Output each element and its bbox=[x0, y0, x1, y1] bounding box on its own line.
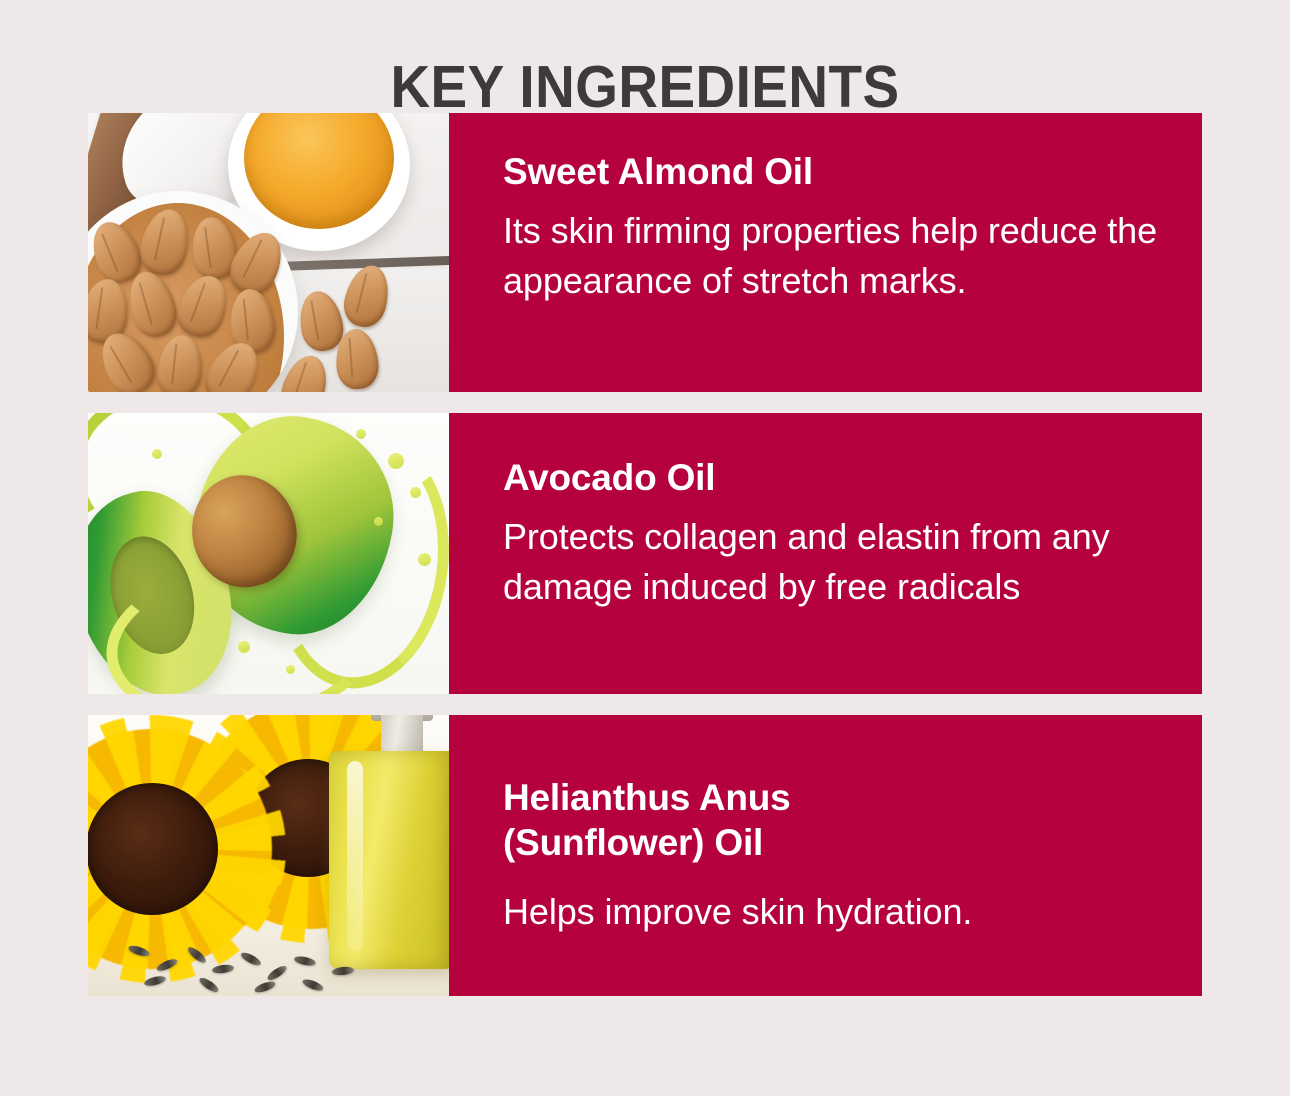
ingredient-name: Sweet Almond Oil bbox=[503, 149, 1162, 194]
oil-droplet bbox=[152, 449, 162, 459]
sunflower-disc bbox=[88, 783, 218, 915]
oil-droplet bbox=[388, 453, 404, 469]
avocado-photo-art bbox=[88, 413, 449, 694]
sunflower-oil-photo bbox=[88, 715, 449, 996]
sunflower-front bbox=[88, 729, 272, 969]
ingredient-details: Sweet Almond Oil Its skin firming proper… bbox=[449, 113, 1202, 392]
oil-droplet bbox=[238, 641, 250, 653]
oil-droplet bbox=[374, 517, 383, 526]
ingredient-name: Helianthus Anus (Sunflower) Oil bbox=[503, 775, 1162, 865]
ingredient-card: Avocado Oil Protects collagen and elasti… bbox=[88, 413, 1202, 694]
oil-droplet bbox=[286, 665, 295, 674]
oil-bottle bbox=[329, 751, 449, 969]
ingredient-card-list: Sweet Almond Oil Its skin firming proper… bbox=[88, 113, 1202, 996]
ingredient-description: Helps improve skin hydration. bbox=[503, 887, 1162, 937]
oil-droplet bbox=[410, 487, 421, 498]
oil-droplet bbox=[418, 553, 431, 566]
ingredient-description: Its skin firming properties help reduce … bbox=[503, 206, 1162, 306]
sunflower-photo-art bbox=[88, 715, 449, 996]
ingredient-name: Avocado Oil bbox=[503, 455, 1162, 500]
ingredient-description: Protects collagen and elastin from any d… bbox=[503, 512, 1162, 612]
ingredient-details: Helianthus Anus (Sunflower) Oil Helps im… bbox=[449, 715, 1202, 996]
avocado-oil-photo bbox=[88, 413, 449, 694]
ingredient-card: Sweet Almond Oil Its skin firming proper… bbox=[88, 113, 1202, 392]
ingredient-card: Helianthus Anus (Sunflower) Oil Helps im… bbox=[88, 715, 1202, 996]
page-title: KEY INGREDIENTS bbox=[45, 58, 1245, 117]
oil-droplet bbox=[356, 429, 366, 439]
ingredient-details: Avocado Oil Protects collagen and elasti… bbox=[449, 413, 1202, 694]
almond-photo-art bbox=[88, 113, 449, 392]
almond-oil-photo bbox=[88, 113, 449, 392]
